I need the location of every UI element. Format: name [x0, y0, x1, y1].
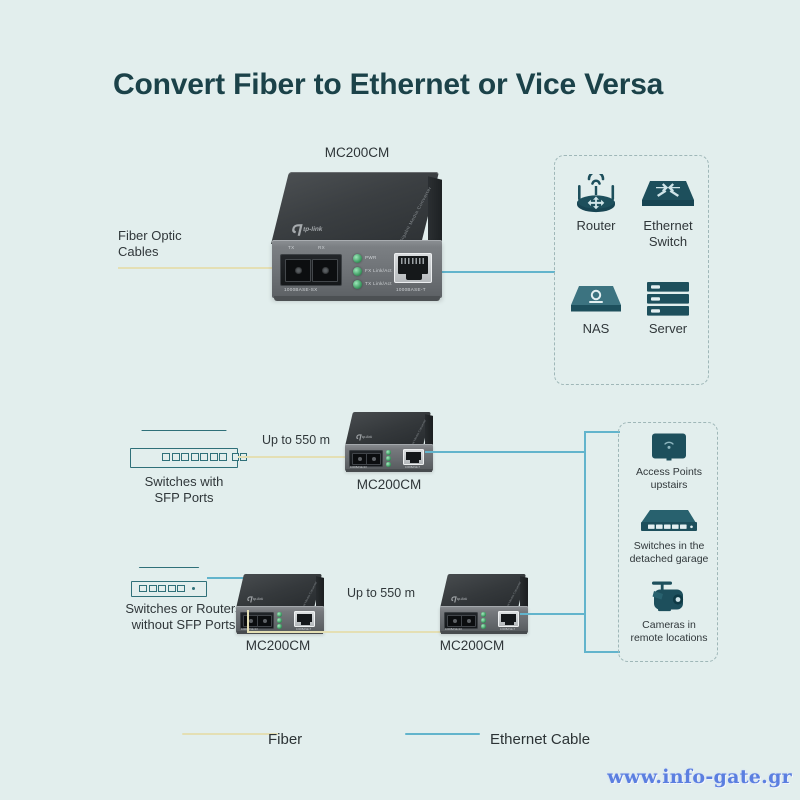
rj45-tab — [410, 459, 419, 463]
tp-link-logo-icon: tp-link — [450, 595, 470, 605]
fiber-optic-cables-label: Fiber Optic Cables — [118, 228, 238, 260]
led-tx — [481, 624, 486, 629]
nas-icon — [570, 284, 622, 316]
led-pwr — [481, 612, 486, 617]
bottom-left-device-label: MC200CM — [230, 638, 326, 654]
led-fx-label: FX Link/Act — [365, 268, 392, 273]
switch-icon — [641, 508, 697, 536]
led-tx — [353, 280, 362, 289]
access-point-icon — [649, 433, 689, 463]
led-fx — [277, 618, 282, 623]
nas-label: NAS — [559, 321, 633, 337]
sc-slot-tx — [243, 615, 258, 627]
led-pwr — [353, 254, 362, 263]
led-tx — [277, 624, 282, 629]
remote-devices-box: Access Points upstairs Switches in the d… — [618, 422, 718, 662]
sc-slot-rx — [366, 453, 381, 465]
led-pwr-label: PWR — [365, 255, 377, 260]
led-fx — [353, 267, 362, 276]
fiber-cable-middle — [238, 456, 353, 458]
media-converter-device-middle: tp-link Gigabit Media Converter 1000BASE… — [345, 412, 433, 482]
switch-without-sfp-icon — [131, 567, 207, 597]
switch-with-sfp-icon — [130, 430, 238, 468]
sc-slot-tx — [285, 259, 311, 282]
led-fx — [481, 618, 486, 623]
ethernet-cable-middle — [425, 451, 585, 453]
device-front-panel: 1000BASE-SX 1000BASE-T — [236, 606, 324, 633]
watermark: www.info-gate.gr — [607, 766, 792, 788]
switch-ports — [139, 585, 185, 592]
svg-text:tp-link: tp-link — [302, 226, 323, 233]
ethernet-switch-icon — [642, 178, 694, 212]
svg-text:tp-link: tp-link — [457, 597, 468, 601]
server-label: Server — [631, 321, 705, 337]
sfp-sc-port — [240, 612, 274, 629]
distance-label-bottom: Up to 550 m — [338, 585, 424, 601]
legend-ethernet-label: Ethernet Cable — [490, 731, 590, 748]
led-pwr — [386, 450, 391, 455]
ethernet-bus-vertical — [584, 431, 586, 653]
rj45-port — [403, 449, 424, 465]
device-front-panel: TX RX 1000BASE-SX PWR FX Link/Act TX Lin… — [272, 240, 442, 298]
rj45-tab — [505, 621, 514, 625]
switch-lid — [130, 430, 238, 450]
device-base — [274, 296, 440, 301]
device-front-panel: 1000BASE-SX 1000BASE-T — [440, 606, 528, 633]
camera-icon — [645, 581, 693, 617]
sc-slot-rx — [257, 615, 272, 627]
device-base — [441, 631, 527, 634]
target-devices-box: Router Ethernet Switch NAS — [554, 155, 709, 385]
ethernet-cable-top — [430, 271, 555, 273]
page-title: Convert Fiber to Ethernet or Vice Versa — [113, 68, 663, 102]
tx-port-label: TX — [288, 245, 294, 250]
ethernet-cable-bottom-right — [520, 613, 585, 615]
middle-device-label: MC200CM — [341, 477, 437, 493]
switches-garage-label: Switches in the detached garage — [619, 540, 719, 566]
legend-fiber-label: Fiber — [268, 731, 302, 748]
sfp-sc-port — [280, 254, 342, 286]
tp-link-logo-icon: tp-link — [246, 595, 266, 605]
switch-ports — [162, 453, 247, 461]
fiber-line-icon — [182, 733, 278, 736]
media-converter-device-top: tp-link Gigabit Media Converter TX RX 10… — [272, 172, 442, 312]
ethernet-switch-label: Ethernet Switch — [631, 218, 705, 250]
sc-slot-rx — [312, 259, 338, 282]
router-icon — [569, 174, 623, 214]
rj45-port — [294, 611, 315, 627]
svg-text:tp-link: tp-link — [253, 597, 264, 601]
ethernet-branch-cameras — [584, 651, 620, 653]
rj45-port-label: 1000BASE-T — [396, 287, 426, 292]
led-fx — [386, 456, 391, 461]
bottom-right-device-label: MC200CM — [424, 638, 520, 654]
led-pwr — [277, 612, 282, 617]
distance-label-middle: Up to 550 m — [253, 432, 339, 448]
switches-with-sfp-label: Switches with SFP Ports — [124, 474, 244, 506]
switch-lid — [131, 567, 207, 583]
sfp-sc-port — [444, 612, 478, 629]
ethernet-line-icon — [405, 733, 480, 736]
sfp-port-label: 1000BASE-SX — [284, 287, 317, 292]
server-icon — [647, 282, 689, 317]
sc-slot-tx — [352, 453, 367, 465]
media-converter-device-bottom-right: tp-link Gigabit Media Converter 1000BASE… — [440, 574, 528, 644]
led-tx-label: TX Link/Act — [365, 281, 392, 286]
cameras-label: Cameras in remote locations — [619, 619, 719, 645]
sc-slot-tx — [447, 615, 462, 627]
access-points-label: Access Points upstairs — [621, 466, 717, 492]
tp-link-logo-icon: tp-link — [290, 222, 328, 239]
switch-indicator-dot — [192, 587, 195, 590]
ethernet-branch-access-points — [584, 431, 620, 433]
svg-text:tp-link: tp-link — [362, 435, 373, 439]
rx-port-label: RX — [318, 245, 325, 250]
rj45-port — [394, 253, 432, 283]
rj45-port — [498, 611, 519, 627]
top-device-label: MC200CM — [272, 145, 442, 161]
router-label: Router — [559, 218, 633, 234]
sfp-sc-port — [349, 450, 383, 467]
diagram-canvas: Convert Fiber to Ethernet or Vice Versa … — [0, 0, 800, 800]
media-converter-device-bottom-left: tp-link Gigabit Media Converter 1000BASE… — [236, 574, 324, 644]
led-tx — [386, 462, 391, 467]
tp-link-logo-icon: tp-link — [355, 433, 375, 443]
fiber-cable-top — [118, 267, 282, 269]
sc-slot-rx — [461, 615, 476, 627]
rj45-tab — [301, 621, 310, 625]
rj45-tab — [406, 272, 422, 280]
fiber-cable-bottom-drop-left — [247, 610, 249, 632]
fiber-cable-bottom — [247, 631, 452, 633]
device-front-panel: 1000BASE-SX 1000BASE-T — [345, 444, 433, 471]
device-base — [346, 469, 432, 472]
